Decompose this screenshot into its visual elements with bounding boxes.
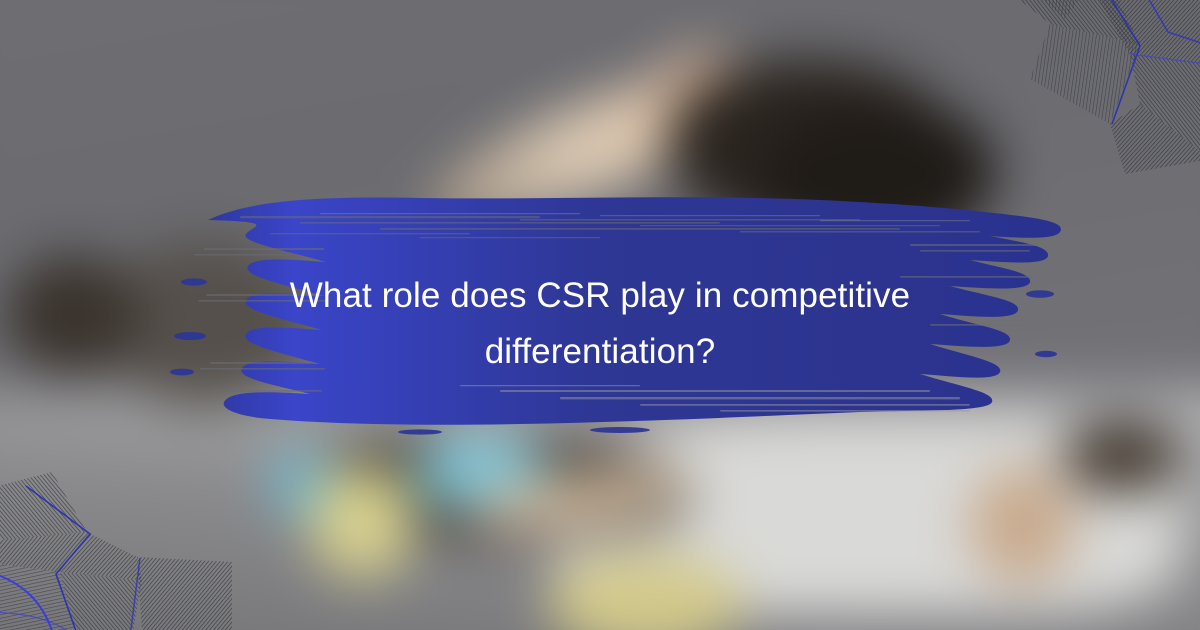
background-shape-left-dark: [6, 255, 138, 375]
question-card: What role does CSR play in competitive d…: [0, 0, 1200, 630]
page-title: What role does CSR play in competitive d…: [180, 268, 1020, 380]
background-foot-right: [970, 465, 1076, 585]
background-yellow-left: [310, 465, 416, 578]
